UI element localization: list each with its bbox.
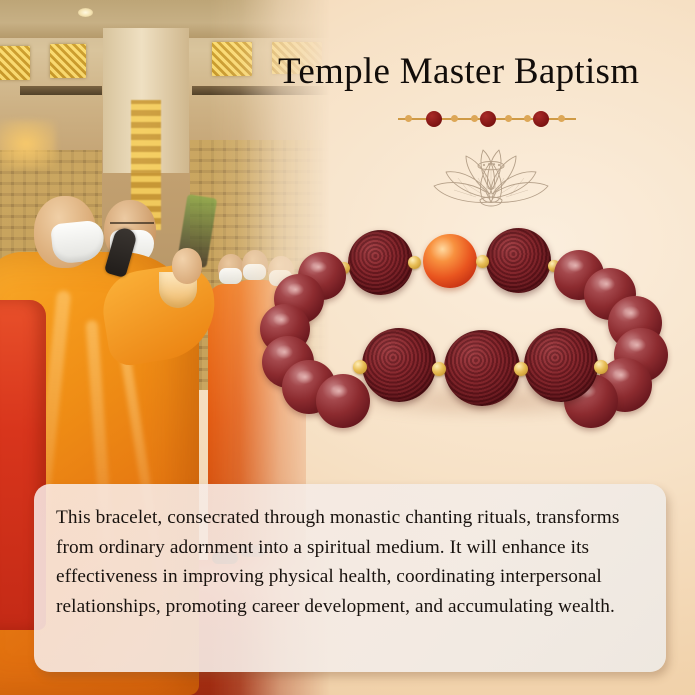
carved-bead xyxy=(524,328,598,402)
gold-spacer-bead xyxy=(432,362,446,376)
warm-light-glow xyxy=(0,120,56,168)
product-poster: Temple Master Baptism xyxy=(0,0,695,695)
divider-dot-icon xyxy=(505,115,512,122)
carved-bead xyxy=(444,330,520,406)
divider-bead-icon xyxy=(426,111,442,127)
divider xyxy=(392,108,582,130)
gold-spacer-bead xyxy=(476,255,489,268)
lotus-flower-line-art-icon xyxy=(428,138,554,210)
smooth-bead xyxy=(316,374,370,428)
accent-amber-bead xyxy=(423,234,477,288)
gold-spacer-bead xyxy=(408,256,421,269)
page-title: Temple Master Baptism xyxy=(278,50,690,93)
gold-spacer-bead xyxy=(353,360,367,374)
divider-dot-icon xyxy=(471,115,478,122)
carved-bead xyxy=(348,230,413,295)
gold-wall-panel xyxy=(212,42,252,76)
divider-bead-icon xyxy=(480,111,496,127)
divider-dot-icon xyxy=(451,115,458,122)
description-panel: This bracelet, consecrated through monas… xyxy=(34,484,666,672)
bracelet-product-image xyxy=(296,212,688,417)
carved-bead xyxy=(362,328,436,402)
gold-wall-panel xyxy=(0,46,30,80)
ceiling-light-icon xyxy=(78,8,93,17)
description-text: This bracelet, consecrated through monas… xyxy=(56,503,646,621)
gold-spacer-bead xyxy=(594,360,608,374)
wall-shadow-band xyxy=(20,86,102,95)
divider-dot-icon xyxy=(558,115,565,122)
face-mask-icon xyxy=(243,264,266,280)
carved-bead xyxy=(486,228,551,293)
gold-wall-panel xyxy=(50,44,86,78)
lead-monk-hand xyxy=(172,248,202,284)
divider-bead-icon xyxy=(533,111,549,127)
gold-spacer-bead xyxy=(514,362,528,376)
divider-dot-icon xyxy=(524,115,531,122)
divider-dot-icon xyxy=(405,115,412,122)
